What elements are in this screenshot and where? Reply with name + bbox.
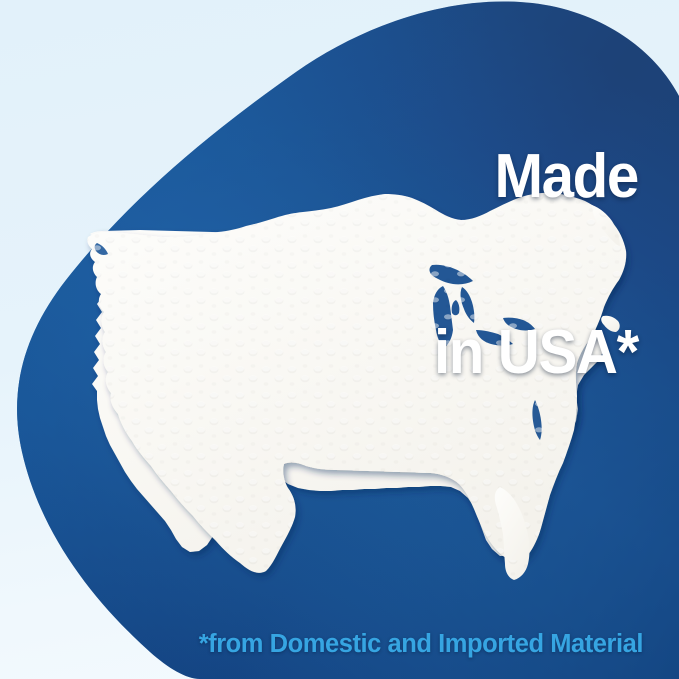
made-in-usa-graphic: Made in USA* *from Domestic and Imported… [0,0,679,679]
page-title: Made in USA* [434,30,638,501]
headline-line-2: in USA* [434,324,638,383]
footnote-text: *from Domestic and Imported Material [0,630,643,659]
headline-line-1: Made [434,148,638,207]
